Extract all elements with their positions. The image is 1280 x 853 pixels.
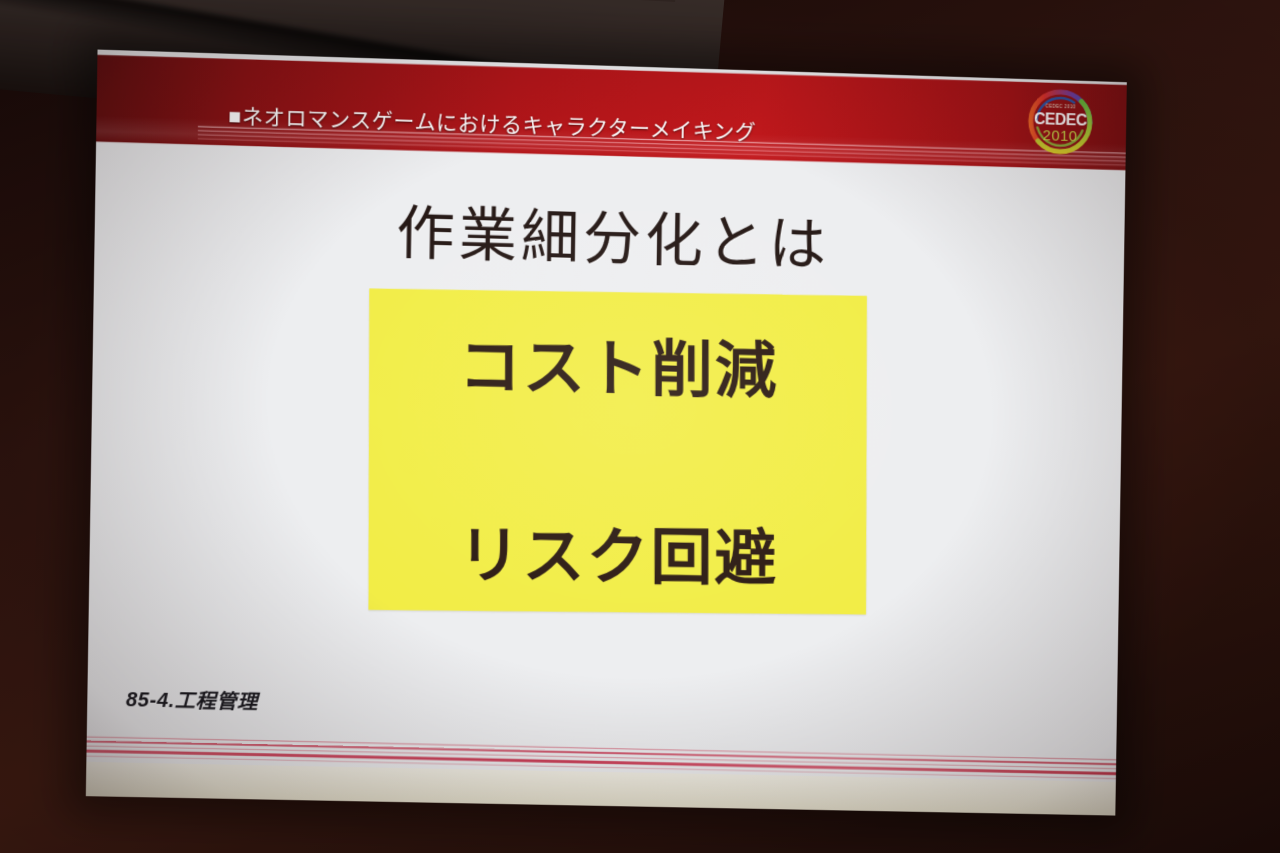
presentation-photo: ■ネオロマンスゲームにおけるキャラクターメイキング bbox=[0, 0, 1280, 853]
highlight-line-risk-avoidance: リスク回避 bbox=[368, 503, 866, 598]
svg-text:2010: 2010 bbox=[1043, 127, 1078, 145]
highlight-line-cost-reduction: コスト削減 bbox=[369, 315, 867, 412]
svg-text:CEDEC 2010: CEDEC 2010 bbox=[1045, 104, 1076, 110]
highlight-box: コスト削減 リスク回避 bbox=[368, 289, 866, 615]
presentation-slide: ■ネオロマンスゲームにおけるキャラクターメイキング bbox=[86, 50, 1127, 816]
slide-footer-label: 85-4.工程管理 bbox=[126, 683, 258, 715]
cedec-2010-logo-icon: CEDEC 2010 CEDEC 2010 bbox=[1015, 81, 1105, 165]
slide-title: 作業細分化とは bbox=[94, 177, 1125, 291]
ceiling-panel-secondary bbox=[435, 0, 679, 2]
projection-screen: ■ネオロマンスゲームにおけるキャラクターメイキング bbox=[86, 50, 1127, 816]
